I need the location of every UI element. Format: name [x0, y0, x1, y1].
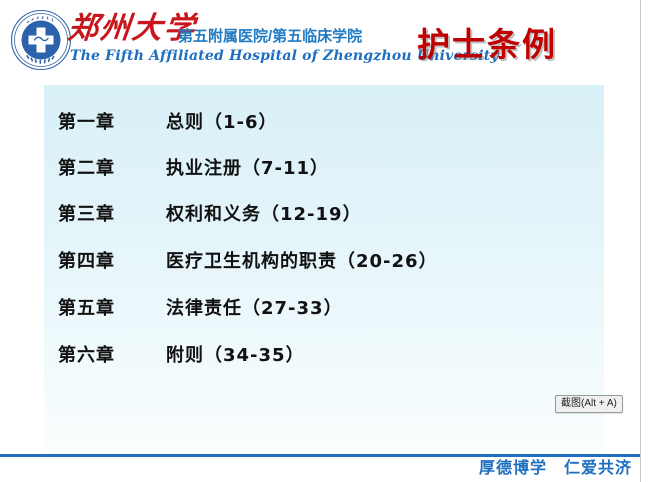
- list-item: 第一章 总则（1-6）: [58, 106, 278, 136]
- slide-title: 护士条例: [417, 28, 557, 61]
- list-item: 第二章 执业注册（7-11）: [58, 152, 329, 182]
- footer-motto: 厚德博学 仁爱共济: [479, 460, 632, 476]
- chapter-title: 医疗卫生机构的职责（20-26）: [166, 247, 438, 273]
- brand-subtitle-cn: 第五附属医院/第五临床学院: [178, 29, 362, 44]
- hospital-circular-emblem-icon: [10, 9, 72, 71]
- presentation-slide: 郑州大学 第五附属医院/第五临床学院 The Fifth Affiliated …: [0, 0, 650, 482]
- chapter-label: 第五章: [58, 294, 166, 320]
- list-item: 第五章 法律责任（27-33）: [58, 292, 343, 322]
- chapter-title: 附则（34-35）: [166, 341, 305, 367]
- chapter-title: 法律责任（27-33）: [166, 294, 343, 320]
- list-item: 第四章 医疗卫生机构的职责（20-26）: [58, 245, 438, 275]
- slide-masthead: 郑州大学 第五附属医院/第五临床学院 The Fifth Affiliated …: [0, 0, 650, 80]
- chapter-label: 第二章: [58, 154, 166, 180]
- chapter-title: 权利和义务（12-19）: [166, 200, 362, 226]
- chapter-title: 总则（1-6）: [166, 108, 278, 134]
- chapter-label: 第六章: [58, 341, 166, 367]
- chapter-label: 第四章: [58, 247, 166, 273]
- footer-divider: [0, 454, 640, 457]
- list-item: 第六章 附则（34-35）: [58, 339, 305, 369]
- chapter-title: 执业注册（7-11）: [166, 154, 329, 180]
- chapter-label: 第三章: [58, 200, 166, 226]
- list-item: 第三章 权利和义务（12-19）: [58, 198, 362, 228]
- content-panel: 第一章 总则（1-6） 第二章 执业注册（7-11） 第三章 权利和义务（12-…: [44, 85, 604, 455]
- screenshot-capture-button[interactable]: 截图(Alt + A): [555, 395, 623, 413]
- slide-right-edge: [640, 0, 641, 482]
- chapter-label: 第一章: [58, 108, 166, 134]
